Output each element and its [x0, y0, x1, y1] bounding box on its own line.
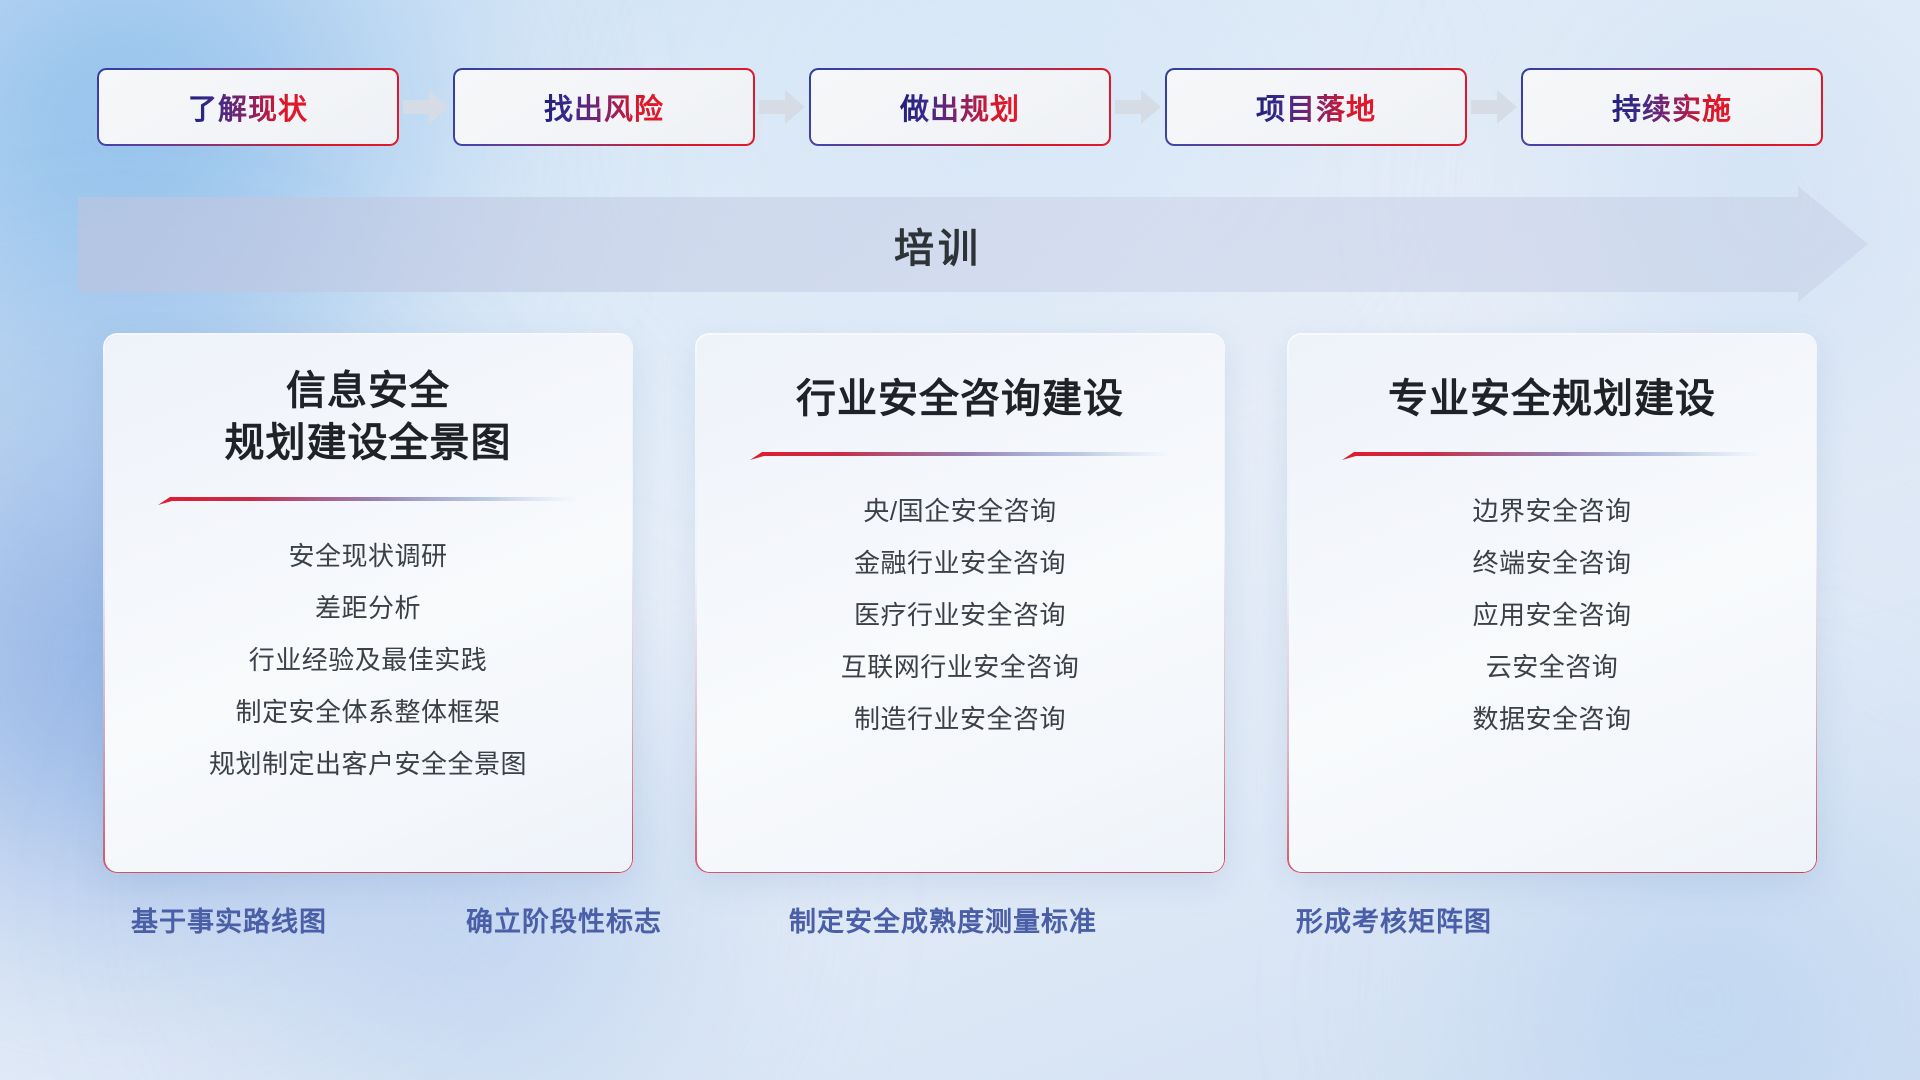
card-2-body: 专业安全规划建设 边界安 — [1289, 335, 1816, 872]
process-step-2[interactable]: 做出规划 — [809, 68, 1111, 146]
training-band-label: 培训 — [78, 197, 1798, 292]
bottom-label-2: 制定安全成熟度测量标准 — [789, 900, 1097, 939]
process-step-3[interactable]: 项目落地 — [1165, 68, 1467, 146]
process-step-4[interactable]: 持续实施 — [1521, 68, 1823, 146]
chevron-right-arrow-icon — [1467, 68, 1521, 146]
card-0-divider — [158, 496, 578, 508]
process-step-0[interactable]: 了解现状 — [97, 68, 399, 146]
cards-row: 信息安全 规划建设全景图 — [0, 333, 1920, 873]
chevron-right-arrow-icon — [399, 68, 453, 146]
bottom-label-3: 形成考核矩阵图 — [1296, 900, 1492, 939]
card-0-item-3: 制定安全体系整体框架 — [235, 686, 500, 738]
card-0-item-1: 差距分析 — [315, 582, 421, 634]
card-1-item-1: 金融行业安全咨询 — [854, 537, 1066, 589]
card-1-item-4: 制造行业安全咨询 — [854, 693, 1066, 745]
card-0[interactable]: 信息安全 规划建设全景图 — [103, 333, 633, 873]
card-2-item-4: 数据安全咨询 — [1472, 693, 1631, 745]
card-0-item-4: 规划制定出客户安全全景图 — [209, 738, 527, 790]
card-0-title-line-1: 规划建设全景图 — [225, 417, 512, 470]
card-2-item-0: 边界安全咨询 — [1472, 485, 1631, 537]
training-band: 培训 — [78, 197, 1868, 292]
card-1-item-0: 央/国企安全咨询 — [863, 485, 1056, 537]
card-2-item-3: 云安全咨询 — [1486, 641, 1619, 693]
right-arrow-icon — [1798, 186, 1868, 302]
card-2-divider — [1342, 451, 1762, 463]
card-1-list: 央/国企安全咨询 金融行业安全咨询 医疗行业安全咨询 互联网行业安全咨询 制造行… — [697, 485, 1224, 745]
card-2-item-2: 应用安全咨询 — [1472, 589, 1631, 641]
bottom-label-0: 基于事实路线图 — [131, 900, 327, 939]
card-2-title: 专业安全规划建设 — [1366, 373, 1738, 426]
card-1-title: 行业安全咨询建设 — [774, 373, 1146, 426]
card-0-list: 安全现状调研 差距分析 行业经验及最佳实践 制定安全体系整体框架 规划制定出客户… — [105, 530, 632, 790]
card-2-list: 边界安全咨询 终端安全咨询 应用安全咨询 云安全咨询 数据安全咨询 — [1289, 485, 1816, 745]
card-1-body: 行业安全咨询建设 央/国 — [697, 335, 1224, 872]
process-step-1-label: 找出风险 — [544, 86, 664, 128]
process-step-2-inner: 做出规划 — [811, 70, 1109, 144]
process-step-1[interactable]: 找出风险 — [453, 68, 755, 146]
card-2-item-1: 终端安全咨询 — [1472, 537, 1631, 589]
card-1-title-line-0: 行业安全咨询建设 — [796, 373, 1124, 426]
card-0-item-0: 安全现状调研 — [288, 530, 447, 582]
process-step-2-label: 做出规划 — [900, 86, 1020, 128]
card-1[interactable]: 行业安全咨询建设 央/国 — [695, 333, 1225, 873]
card-0-title-line-0: 信息安全 — [225, 365, 512, 418]
process-step-4-inner: 持续实施 — [1523, 70, 1821, 144]
process-step-3-label: 项目落地 — [1256, 86, 1376, 128]
card-1-item-2: 医疗行业安全咨询 — [854, 589, 1066, 641]
process-flow: 了解现状 找出风险 做出规划 项目落地 — [0, 68, 1920, 146]
card-1-divider — [750, 451, 1170, 463]
chevron-right-arrow-icon — [1111, 68, 1165, 146]
process-step-3-inner: 项目落地 — [1167, 70, 1465, 144]
bottom-label-1: 确立阶段性标志 — [466, 900, 662, 939]
process-step-4-label: 持续实施 — [1612, 86, 1732, 128]
card-1-item-3: 互联网行业安全咨询 — [841, 641, 1080, 693]
card-0-title: 信息安全 规划建设全景图 — [203, 365, 534, 471]
process-step-0-inner: 了解现状 — [99, 70, 397, 144]
bottom-labels: 基于事实路线图 确立阶段性标志 制定安全成熟度测量标准 形成考核矩阵图 — [0, 900, 1920, 960]
process-step-0-label: 了解现状 — [188, 86, 308, 128]
card-2-title-line-0: 专业安全规划建设 — [1388, 373, 1716, 426]
card-0-item-2: 行业经验及最佳实践 — [249, 634, 488, 686]
process-step-1-inner: 找出风险 — [455, 70, 753, 144]
card-0-body: 信息安全 规划建设全景图 — [105, 335, 632, 872]
chevron-right-arrow-icon — [755, 68, 809, 146]
card-2[interactable]: 专业安全规划建设 边界安 — [1287, 333, 1817, 873]
